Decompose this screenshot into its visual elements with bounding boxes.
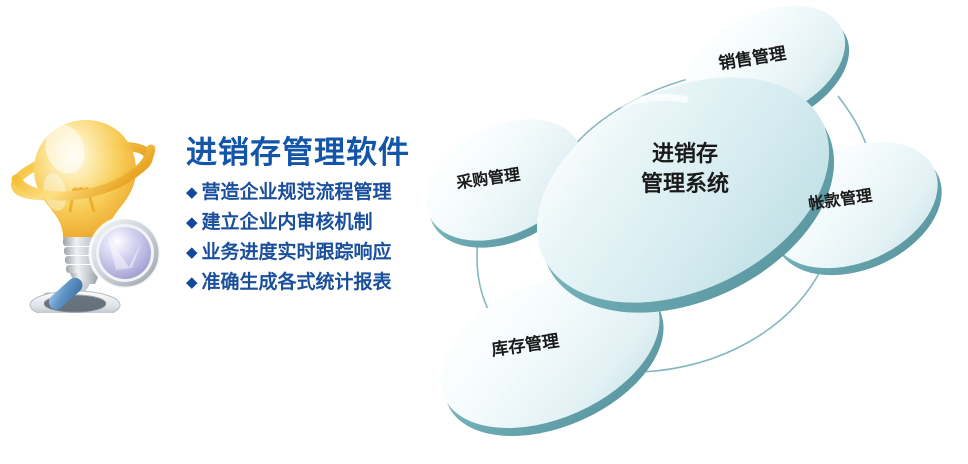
- feature-label: 营造企业规范流程管理: [202, 183, 392, 202]
- feature-item: ◆ 建立企业内审核机制: [186, 213, 426, 232]
- feature-label: 建立企业内审核机制: [202, 213, 373, 232]
- system-modules-diagram: 进销存 管理系统 销售管理 采购管理 帐款管理 库存管理: [420, 0, 968, 464]
- feature-item: ◆ 准确生成各式统计报表: [186, 273, 426, 292]
- diamond-bullet-icon: ◆: [186, 245, 198, 260]
- lightbulb-illustration: [8, 108, 178, 313]
- promo-banner: 进销存管理软件 ◆ 营造企业规范流程管理 ◆ 建立企业内审核机制 ◆ 业务进度实…: [0, 0, 968, 464]
- feature-item: ◆ 业务进度实时跟踪响应: [186, 243, 426, 262]
- feature-item: ◆ 营造企业规范流程管理: [186, 183, 426, 202]
- feature-label: 业务进度实时跟踪响应: [202, 243, 392, 262]
- diamond-bullet-icon: ◆: [186, 215, 198, 230]
- diamond-bullet-icon: ◆: [186, 185, 198, 200]
- diamond-bullet-icon: ◆: [186, 275, 198, 290]
- marketing-copy: 进销存管理软件 ◆ 营造企业规范流程管理 ◆ 建立企业内审核机制 ◆ 业务进度实…: [186, 136, 426, 292]
- page-title: 进销存管理软件: [186, 136, 426, 172]
- feature-label: 准确生成各式统计报表: [202, 273, 392, 292]
